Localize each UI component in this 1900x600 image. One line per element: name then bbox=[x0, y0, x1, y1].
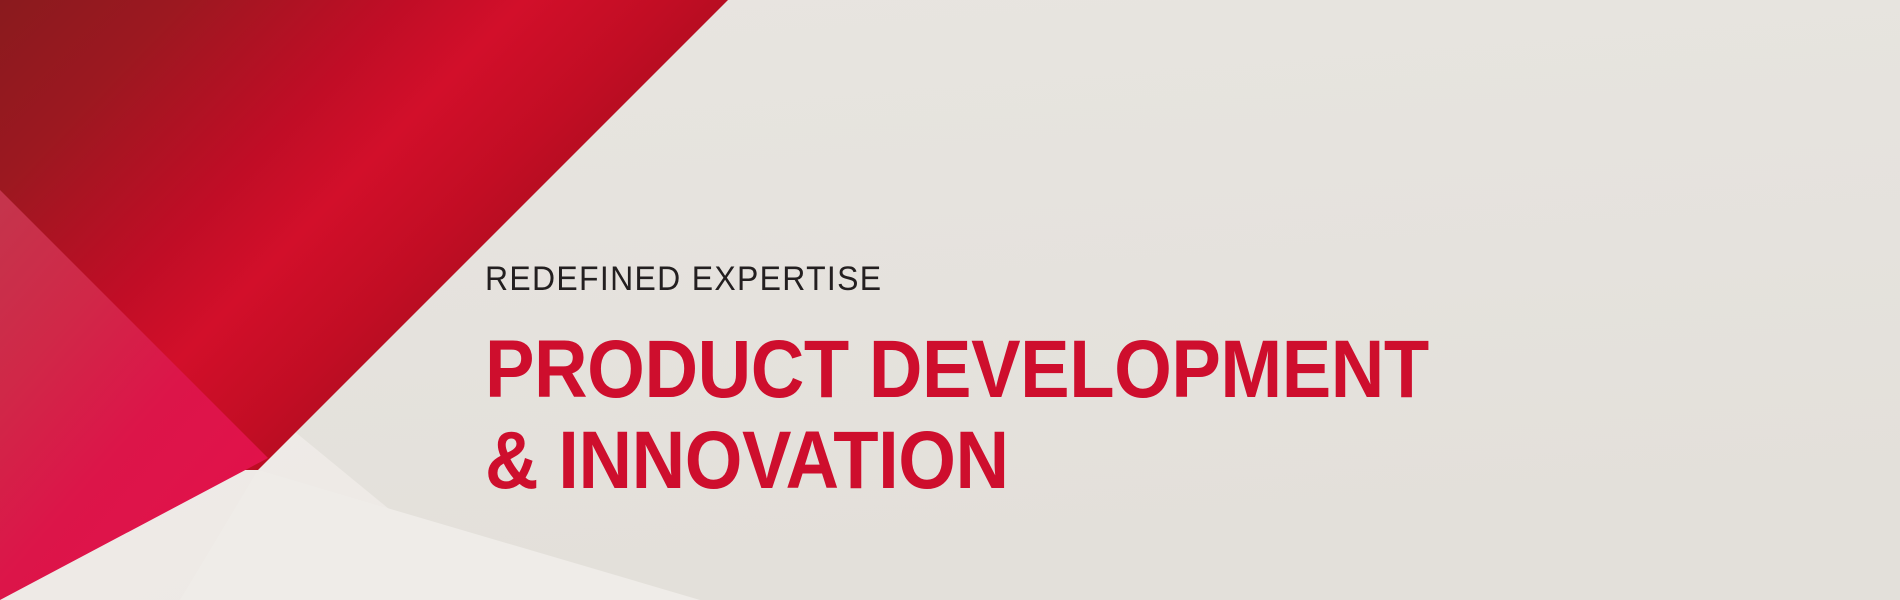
hero-headline-line-2: & INNOVATION bbox=[485, 415, 1571, 506]
hero-copy-block: REDEFINED EXPERTISE PRODUCT DEVELOPMENT … bbox=[485, 262, 1685, 506]
hero-headline: PRODUCT DEVELOPMENT & INNOVATION bbox=[485, 324, 1571, 506]
hero-headline-line-1: PRODUCT DEVELOPMENT bbox=[485, 324, 1571, 415]
hero-kicker: REDEFINED EXPERTISE bbox=[485, 262, 1613, 298]
hero-banner: REDEFINED EXPERTISE PRODUCT DEVELOPMENT … bbox=[0, 0, 1900, 600]
